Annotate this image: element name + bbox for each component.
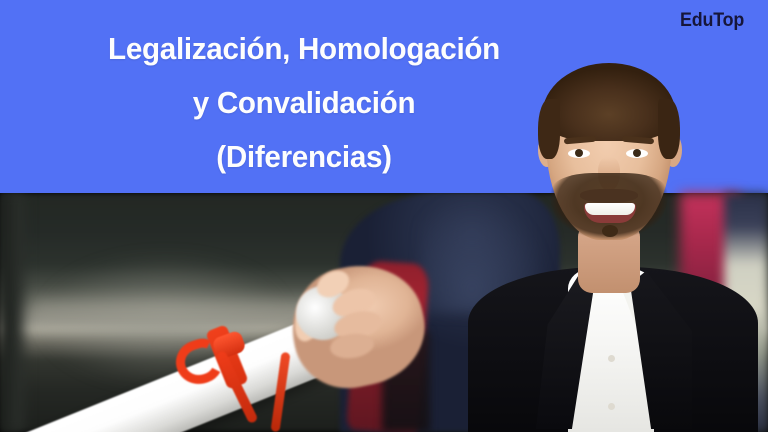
teeth	[585, 203, 635, 215]
hair	[542, 63, 676, 141]
brand-logo: EduTop	[680, 10, 744, 32]
background-pillar	[0, 193, 30, 432]
pupil-left	[575, 149, 583, 157]
hair-side-right	[658, 99, 680, 159]
hair-side-left	[538, 99, 560, 159]
shirt-button-2	[608, 403, 615, 410]
mouth	[584, 203, 636, 223]
presenter-cutout	[480, 55, 768, 432]
shirt-button-1	[608, 355, 615, 362]
pupil-right	[633, 149, 641, 157]
soul-patch	[602, 225, 618, 237]
video-thumbnail: Legalización, Homologación y Convalidaci…	[0, 0, 768, 432]
moustache	[580, 189, 638, 203]
